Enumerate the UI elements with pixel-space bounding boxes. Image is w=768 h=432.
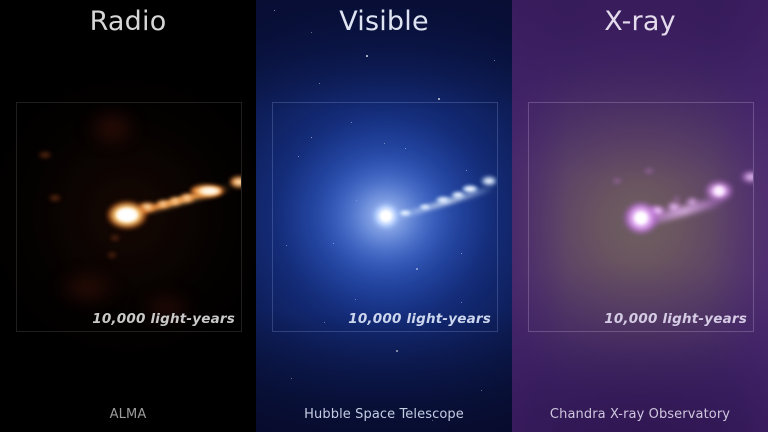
panel-xray-scale-label: 10,000 light-years [604,311,747,327]
star [319,83,320,84]
panel-radio: Radio [0,0,256,432]
panel-visible-scale-label: 10,000 light-years [348,311,491,327]
xray-faint-knot [644,168,655,174]
visible-galaxy-halo-inner [326,162,446,270]
radio-faint-knot [38,152,52,158]
xray-jet-terminal-knot [742,172,754,182]
visible-jet-stream [392,185,494,221]
radio-diffuse-patch [86,108,138,148]
star [405,148,406,149]
panel-xray-caption: Chandra X-ray Observatory [512,407,768,422]
star [494,60,495,61]
star [311,137,312,138]
panel-visible-title: Visible [256,5,512,39]
panel-radio-image-frame: 10,000 light-years [16,102,242,332]
panel-radio-caption: ALMA [0,407,256,422]
panel-xray-image-frame: 10,000 light-years [528,102,754,332]
panel-xray: X-ray 10,000 light-years [512,0,768,432]
xray-faint-knot [673,196,682,202]
panel-xray-title: X-ray [512,5,768,39]
panel-radio-scale-label: 10,000 light-years [92,311,235,327]
radio-faint-knot [108,253,117,258]
star [461,253,462,254]
visible-jet-image [273,103,497,331]
xray-jet-image [529,103,753,331]
xray-jet-bright-knot-core [713,186,725,196]
visible-jet-terminal-knot [482,177,497,186]
star [366,55,368,57]
radio-diffuse-patch [57,271,117,305]
star [355,299,356,300]
visible-galaxy-halo [281,121,491,311]
radio-jet-terminal-knot [230,177,242,188]
radio-faint-knot [110,236,120,241]
star [438,98,440,100]
star [291,378,292,379]
panel-visible: Visible [256,0,512,432]
radio-faint-knot [49,195,62,201]
panel-radio-title: Radio [0,5,256,39]
star [396,350,398,352]
star [481,390,482,391]
visible-galaxy-core-center [380,211,392,222]
panel-visible-image-frame: 10,000 light-years [272,102,498,332]
xray-faint-knot [612,178,622,184]
radio-jet-image [17,103,241,331]
xray-jet-stream [638,195,727,228]
radio-jet-stream [130,186,222,216]
star [333,243,334,244]
panel-visible-caption: Hubble Space Telescope [256,407,512,422]
multiwavelength-comparison: Radio [0,0,768,432]
